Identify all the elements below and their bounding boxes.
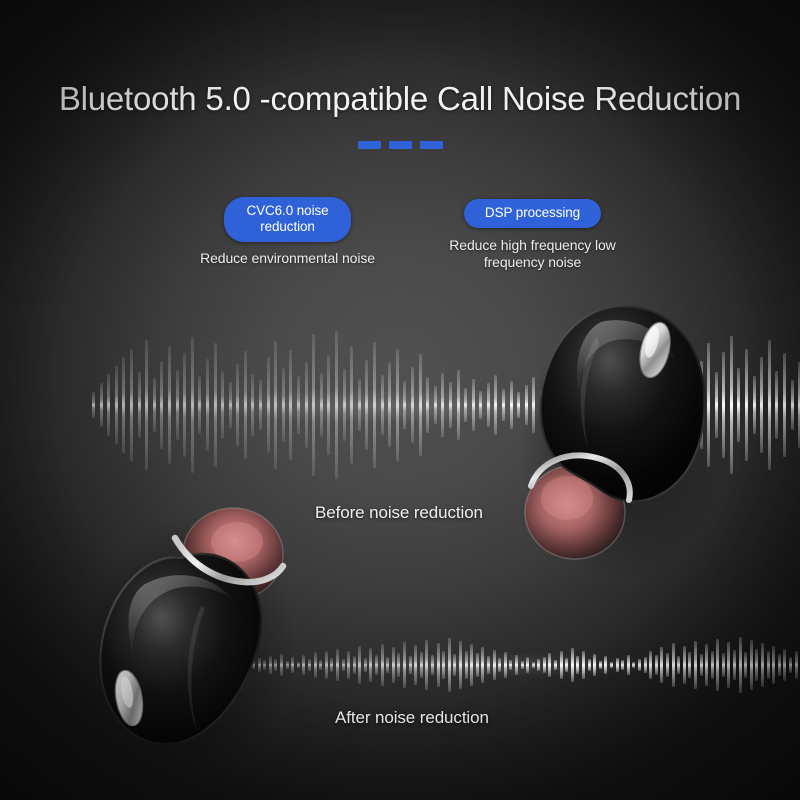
waveform-bar [767, 651, 770, 678]
waveform-bar [761, 643, 764, 687]
waveform-bar [537, 659, 540, 671]
waveform-bar [392, 647, 395, 684]
waveform-bar [130, 349, 133, 461]
waveform-bar [425, 640, 428, 690]
waveform-bar [755, 649, 758, 682]
badge-cvc-line2: reduction [260, 219, 315, 234]
waveform-bar [459, 641, 462, 689]
waveform-bar [153, 378, 156, 432]
waveform-bar [386, 657, 389, 672]
waveform-bar [274, 341, 277, 469]
waveform-bar [588, 659, 591, 671]
waveform-bar [442, 651, 445, 678]
waveform-bar [487, 383, 490, 427]
waveform-bar [115, 366, 118, 444]
dash-1 [358, 141, 381, 149]
badge-cvc: CVC6.0 noise reduction [224, 197, 350, 242]
waveform-bar [487, 656, 490, 673]
waveform-bar [403, 642, 406, 688]
waveform-bar [599, 661, 602, 669]
waveform-bar [312, 334, 315, 476]
waveform-bar [358, 379, 361, 431]
waveform-bar [464, 388, 467, 422]
waveform-bar [733, 650, 736, 681]
waveform-bar [420, 652, 423, 677]
waveform-bar [369, 648, 372, 683]
waveform-bar [560, 651, 563, 680]
waveform-bar [753, 376, 756, 434]
waveform-bar [297, 376, 300, 434]
waveform-bar [604, 656, 607, 673]
waveform-bar [760, 357, 763, 453]
waveform-bar [745, 349, 748, 461]
waveform-bar [214, 343, 217, 467]
waveform-bar [343, 369, 346, 441]
waveform-bar [259, 380, 262, 430]
waveform-bar [548, 653, 551, 676]
waveform-bar [396, 349, 399, 461]
waveform-bar [638, 659, 641, 671]
waveform-bar [521, 661, 524, 669]
waveform-bar [397, 653, 400, 676]
waveform-bar [481, 647, 484, 684]
waveform-bar [532, 662, 535, 668]
waveform-bar [565, 658, 568, 672]
waveform-bar [737, 368, 740, 442]
waveform-bar [330, 658, 333, 672]
waveform-bar [509, 660, 512, 670]
waveform-bar [183, 353, 186, 457]
waveform-bar [414, 645, 417, 686]
waveform-bar [775, 371, 778, 439]
waveform-bar [472, 379, 475, 431]
product-poster: Bluetooth 5.0 -compatible Call Noise Red… [0, 0, 800, 800]
waveform-bar [683, 646, 686, 685]
waveform-bar [229, 382, 232, 428]
waveform-bar [244, 351, 247, 459]
waveform-bar [381, 644, 384, 686]
waveform-bar [616, 658, 619, 672]
badge-dsp: DSP processing [464, 199, 601, 228]
waveform-bar [571, 648, 574, 683]
waveform-bar [627, 655, 630, 674]
waveform-bar [267, 357, 270, 453]
dash-divider [0, 141, 800, 149]
waveform-bar [582, 651, 585, 678]
waveform-bar [437, 643, 440, 687]
waveform-bar [168, 346, 171, 464]
waveform-bar [453, 654, 456, 675]
waveform-bar [176, 370, 179, 440]
feature-dsp: DSP processing Reduce high frequency low… [420, 199, 645, 271]
waveform-bar [465, 651, 468, 680]
waveform-bar [388, 363, 391, 447]
waveform-bar [327, 355, 330, 455]
waveform-bar [504, 652, 507, 677]
waveform-bar [431, 655, 434, 674]
waveform-bar [632, 662, 635, 669]
waveform-bar [198, 376, 201, 434]
waveform-bar [448, 638, 451, 692]
waveform-bar [342, 659, 345, 671]
feature-cvc-caption: Reduce environmental noise [180, 250, 395, 267]
waveform-bar [778, 654, 781, 675]
waveform-bar [336, 649, 339, 682]
waveform-bar [666, 653, 669, 676]
caption-after-noise-reduction: After noise reduction [335, 708, 489, 728]
waveform-bar [677, 656, 680, 673]
waveform-bar [498, 658, 501, 672]
waveform-bar [419, 354, 422, 456]
waveform-bar [750, 640, 753, 690]
earbud-bottom-left [85, 498, 315, 778]
waveform-bar [441, 373, 444, 437]
waveform-bar [457, 370, 460, 440]
waveform-bar [138, 372, 141, 438]
feature-dsp-caption: Reduce high frequency low frequency nois… [420, 237, 645, 271]
waveform-bar [325, 651, 328, 680]
waveform-bar [772, 646, 775, 685]
page-title: Bluetooth 5.0 -compatible Call Noise Red… [0, 80, 800, 118]
waveform-bar [655, 655, 658, 674]
waveform-bar [768, 340, 771, 470]
waveform-bar [449, 382, 452, 428]
waveform-bar [100, 383, 103, 427]
waveform-bar [92, 392, 95, 418]
waveform-bar [122, 357, 125, 453]
waveform-bar [593, 654, 596, 675]
waveform-bar [515, 655, 518, 674]
waveform-bar [610, 662, 613, 668]
waveform-bar [660, 647, 663, 684]
waveform-bar [476, 653, 479, 676]
waveform-bar [470, 644, 473, 686]
earbud-top-right [505, 288, 735, 578]
waveform-bar [649, 651, 652, 678]
waveform-bar [722, 653, 725, 676]
waveform-bar [526, 657, 529, 672]
waveform-bar [739, 637, 742, 693]
waveform-bar [375, 655, 378, 674]
waveform-bar [426, 377, 429, 433]
feature-cvc: CVC6.0 noise reduction Reduce environmen… [180, 197, 395, 267]
waveform-bar [493, 650, 496, 681]
waveform-bar [795, 651, 798, 678]
waveform-bar [791, 380, 794, 430]
waveform-bar [319, 660, 322, 671]
waveform-bar [409, 656, 412, 673]
waveform-bar [694, 641, 697, 689]
waveform-bar [744, 652, 747, 677]
waveform-bar [107, 374, 110, 436]
waveform-bar [700, 654, 703, 675]
waveform-bar [411, 367, 414, 443]
waveform-bar [145, 340, 148, 470]
waveform-bar [365, 360, 368, 450]
waveform-bar [353, 656, 356, 673]
waveform-bar [335, 331, 338, 479]
waveform-bar [494, 375, 497, 435]
waveform-bar [305, 362, 308, 448]
waveform-bar [711, 651, 714, 680]
waveform-bar [688, 652, 691, 677]
dash-3 [420, 141, 443, 149]
badge-cvc-line1: CVC6.0 noise [246, 203, 328, 218]
waveform-bar [783, 649, 786, 682]
waveform-bar [373, 342, 376, 468]
feature-dsp-caption-line2: frequency noise [484, 254, 581, 270]
waveform-bar [358, 646, 361, 685]
waveform-after [252, 635, 800, 695]
waveform-bar [621, 660, 624, 670]
waveform-bar [479, 391, 482, 419]
waveform-bar [206, 359, 209, 451]
waveform-bar [543, 657, 546, 672]
waveform-bar [381, 375, 384, 435]
dash-2 [389, 141, 412, 149]
waveform-bar [236, 364, 239, 446]
waveform-bar [434, 386, 437, 424]
waveform-bar [320, 373, 323, 437]
waveform-bar [783, 353, 786, 457]
caption-before-noise-reduction: Before noise reduction [315, 503, 483, 523]
waveform-bar [160, 361, 163, 449]
waveform-bar [251, 374, 254, 436]
waveform-bar [364, 658, 367, 672]
waveform-bar [789, 657, 792, 672]
waveform-bar [716, 639, 719, 691]
waveform-bar [289, 350, 292, 460]
waveform-bar [221, 371, 224, 439]
waveform-bar [644, 657, 647, 672]
waveform-bar [191, 337, 194, 473]
waveform-bar [727, 642, 730, 688]
waveform-bar [403, 381, 406, 429]
waveform-bar [672, 643, 675, 687]
waveform-bar [347, 651, 350, 678]
feature-dsp-caption-line1: Reduce high frequency low [449, 237, 615, 253]
waveform-bar [576, 656, 579, 673]
waveform-bar [350, 346, 353, 464]
waveform-bar [705, 644, 708, 686]
waveform-bar [282, 368, 285, 442]
waveform-bar [554, 660, 557, 670]
